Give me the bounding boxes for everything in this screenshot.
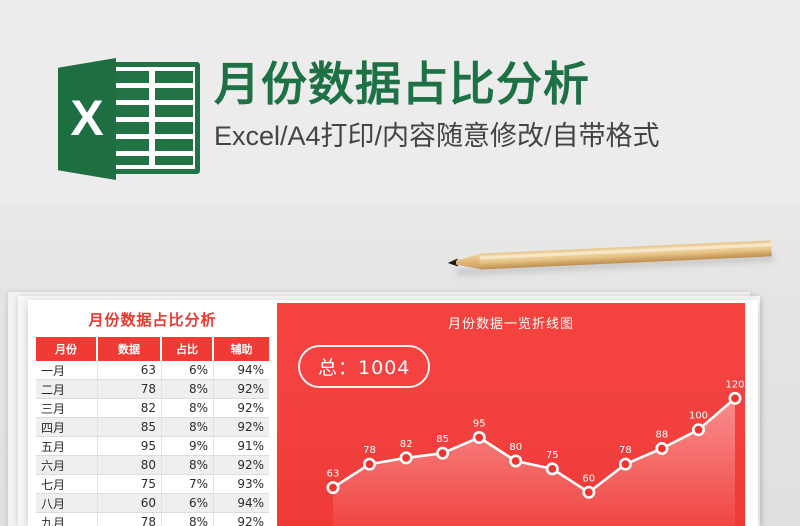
chart-data-label: 95: [473, 419, 486, 430]
cell-aux[interactable]: 92%: [214, 456, 269, 475]
chart-area-fill: [333, 398, 735, 526]
cell-aux[interactable]: 92%: [214, 399, 269, 418]
chart-marker[interactable]: [693, 425, 703, 435]
chart-marker[interactable]: [584, 487, 594, 497]
table-body: 一月636%94%二月788%92%三月828%92%四月858%92%五月95…: [36, 361, 269, 526]
cell-aux[interactable]: 92%: [214, 380, 269, 399]
cell-aux[interactable]: 94%: [214, 361, 269, 380]
table-row[interactable]: 二月788%92%: [36, 380, 269, 399]
cell-percent[interactable]: 6%: [162, 494, 214, 513]
chart-marker[interactable]: [474, 432, 484, 442]
cell-month[interactable]: 九月: [36, 513, 98, 526]
line-chart-svg: 63788285958075607888100120: [277, 303, 745, 526]
cell-value[interactable]: 82: [98, 399, 162, 418]
chart-data-label: 85: [436, 434, 449, 445]
cell-month[interactable]: 八月: [36, 494, 98, 513]
cell-month[interactable]: 五月: [36, 437, 98, 456]
cell-percent[interactable]: 8%: [162, 513, 214, 526]
cell-aux[interactable]: 94%: [214, 494, 269, 513]
table-row[interactable]: 五月959%91%: [36, 437, 269, 456]
chart-data-label: 60: [582, 473, 595, 484]
chart-marker[interactable]: [657, 443, 667, 453]
chart-marker[interactable]: [364, 459, 374, 469]
cell-aux[interactable]: 91%: [214, 437, 269, 456]
cell-percent[interactable]: 8%: [162, 418, 214, 437]
chart-data-label: 80: [509, 442, 522, 453]
chart-marker[interactable]: [437, 448, 447, 458]
data-table-panel: 月份数据占比分析 月份 数据 占比 辅助 一月636%94%二月788%92%三…: [28, 300, 277, 526]
cell-percent[interactable]: 8%: [162, 399, 214, 418]
table-row[interactable]: 三月828%92%: [36, 399, 269, 418]
cell-month[interactable]: 七月: [36, 475, 98, 494]
cell-value[interactable]: 63: [98, 361, 162, 380]
chart-data-label: 82: [400, 439, 413, 450]
header-text-block: 月份数据占比分析 Excel/A4打印/内容随意修改/自带格式: [214, 58, 660, 153]
cell-month[interactable]: 二月: [36, 380, 98, 399]
table-row[interactable]: 七月757%93%: [36, 475, 269, 494]
chart-data-label: 88: [656, 430, 669, 441]
column-header-value[interactable]: 数据: [98, 337, 162, 361]
table-row[interactable]: 九月788%92%: [36, 513, 269, 526]
line-chart-panel: 月份数据一览折线图 总：1004 63788285958075607888100…: [277, 303, 745, 526]
table-row[interactable]: 八月606%94%: [36, 494, 269, 513]
data-table: 月份 数据 占比 辅助 一月636%94%二月788%92%三月828%92%四…: [36, 337, 269, 526]
cell-value[interactable]: 95: [98, 437, 162, 456]
excel-logo: X: [58, 58, 200, 180]
pencil-icon: [447, 237, 778, 282]
column-header-percent[interactable]: 占比: [162, 337, 214, 361]
worksheet-preview-card: 月份数据占比分析 月份 数据 占比 辅助 一月636%94%二月788%92%三…: [28, 300, 758, 526]
chart-data-label: 78: [619, 445, 632, 456]
cell-value[interactable]: 60: [98, 494, 162, 513]
spreadsheet-grid-icon: [115, 71, 193, 165]
table-row[interactable]: 四月858%92%: [36, 418, 269, 437]
chart-marker[interactable]: [620, 459, 630, 469]
cell-aux[interactable]: 93%: [214, 475, 269, 494]
page-title: 月份数据占比分析: [214, 60, 660, 110]
cell-aux[interactable]: 92%: [214, 418, 269, 437]
cell-value[interactable]: 78: [98, 380, 162, 399]
header-content: X 月份数据占比分析 Excel/A4打印/内容随意修改/自带格式: [58, 58, 660, 180]
cell-value[interactable]: 75: [98, 475, 162, 494]
cell-percent[interactable]: 8%: [162, 456, 214, 475]
chart-data-label: 100: [689, 411, 708, 422]
chart-marker[interactable]: [328, 482, 338, 492]
chart-data-label: 120: [725, 379, 744, 390]
chart-marker[interactable]: [511, 456, 521, 466]
column-header-aux[interactable]: 辅助: [214, 337, 269, 361]
chart-marker[interactable]: [401, 453, 411, 463]
header-band: X 月份数据占比分析 Excel/A4打印/内容随意修改/自带格式: [0, 0, 800, 206]
chart-data-label: 63: [327, 469, 340, 480]
chart-marker[interactable]: [547, 464, 557, 474]
cell-percent[interactable]: 7%: [162, 475, 214, 494]
cell-percent[interactable]: 8%: [162, 380, 214, 399]
cell-percent[interactable]: 6%: [162, 361, 214, 380]
excel-x-letter: X: [58, 58, 116, 180]
cell-month[interactable]: 四月: [36, 418, 98, 437]
cell-value[interactable]: 80: [98, 456, 162, 475]
column-header-month[interactable]: 月份: [36, 337, 98, 361]
page-subtitle: Excel/A4打印/内容随意修改/自带格式: [214, 114, 660, 153]
chart-data-label: 78: [363, 445, 376, 456]
cell-month[interactable]: 六月: [36, 456, 98, 475]
chart-data-label: 75: [546, 450, 559, 461]
table-row[interactable]: 一月636%94%: [36, 361, 269, 380]
cell-value[interactable]: 78: [98, 513, 162, 526]
cell-value[interactable]: 85: [98, 418, 162, 437]
cell-month[interactable]: 一月: [36, 361, 98, 380]
table-header-row: 月份 数据 占比 辅助: [36, 337, 269, 361]
cell-month[interactable]: 三月: [36, 399, 98, 418]
cell-percent[interactable]: 9%: [162, 437, 214, 456]
cell-aux[interactable]: 92%: [214, 513, 269, 526]
table-title: 月份数据占比分析: [36, 309, 269, 330]
table-row[interactable]: 六月808%92%: [36, 456, 269, 475]
chart-marker[interactable]: [730, 393, 740, 403]
